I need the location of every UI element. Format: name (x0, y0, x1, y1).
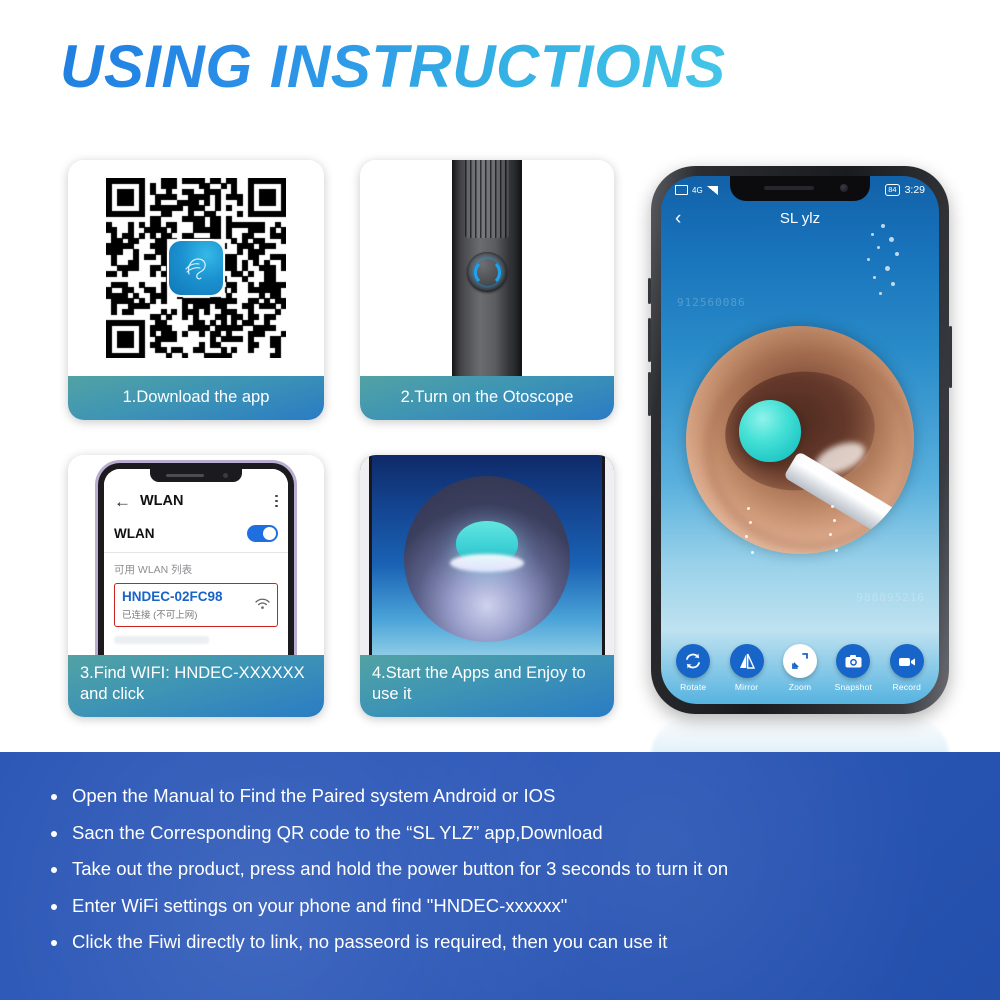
toolbar-button-mirror[interactable]: Mirror (724, 644, 768, 692)
list-item: Enter WiFi settings on your phone and fi… (72, 888, 960, 925)
card-caption: 1.Download the app (68, 376, 324, 420)
wlan-network-item[interactable]: HNDEC-02FC98 已连接 (不可上网) (114, 583, 278, 627)
list-item: Sacn the Corresponding QR code to the “S… (72, 815, 960, 852)
wifi-icon (255, 598, 270, 613)
wifi-glyph (255, 598, 270, 610)
phone-volume-down-button (648, 372, 651, 416)
card-caption: 4.Start the Apps and Enjoy to use it (360, 655, 614, 717)
scope-preview-image (360, 455, 614, 655)
wlan-ssid: HNDEC-02FC98 (122, 589, 223, 605)
message-icon (675, 185, 688, 195)
status-bar: 4G 84 3:29 (661, 181, 939, 199)
phone-power-button (949, 326, 952, 388)
ear-logo-icon (177, 249, 215, 287)
phone-bezel-right (602, 455, 614, 655)
toolbar-button-snapshot[interactable]: Snapshot (831, 644, 875, 692)
card-download-app: 1.Download the app (68, 160, 324, 420)
video-glyph (896, 651, 917, 672)
instructions-panel: Open the Manual to Find the Paired syste… (0, 752, 1000, 1000)
video-icon (890, 644, 924, 678)
zoom-glyph (789, 650, 811, 672)
toolbar-label: Record (893, 682, 922, 692)
mirror-icon (730, 644, 764, 678)
list-item (114, 636, 209, 644)
status-bar-right: 84 3:29 (885, 184, 925, 196)
phone-bezel-left (360, 455, 372, 655)
app-nav-bar: ‹ SL ylz (661, 203, 939, 233)
wlan-toggle-switch[interactable] (247, 525, 278, 542)
wlan-section-label: 可用 WLAN 列表 (114, 562, 278, 577)
device-photo-area (360, 160, 614, 376)
app-title: SL ylz (780, 210, 820, 227)
camera-icon (836, 644, 870, 678)
wlan-toggle-row[interactable]: WLAN (114, 518, 278, 548)
bubbles-decoration (851, 224, 909, 302)
list-item: Take out the product, press and hold the… (72, 851, 960, 888)
page-title: USING INSTRUCTIONS (60, 32, 726, 101)
camera-glyph (843, 651, 864, 672)
back-chevron-icon[interactable]: ‹ (675, 209, 681, 228)
divider (104, 552, 288, 553)
kebab-menu-icon[interactable] (275, 495, 278, 508)
battery-icon: 84 (885, 184, 899, 196)
power-button[interactable] (467, 252, 507, 292)
rotate-glyph (683, 651, 703, 671)
back-arrow-icon[interactable]: ← (114, 493, 131, 510)
toolbar-button-zoom[interactable]: Zoom (778, 644, 822, 692)
mirror-glyph (737, 651, 757, 671)
earpiece-speaker (166, 474, 204, 477)
device-edge-left (452, 160, 459, 376)
wlan-ssid-status: 已连接 (不可上网) (122, 607, 223, 621)
phone-notch (150, 469, 242, 482)
scope-preview-area (360, 455, 614, 655)
camera-toolbar: Rotate Mirror (661, 644, 939, 692)
qr-code-area (68, 160, 324, 376)
wlan-toolbar: ← WLAN (114, 488, 278, 514)
network-type-label: 4G (692, 186, 703, 195)
tip-glow (450, 554, 524, 572)
wlan-header-title: WLAN (140, 493, 184, 509)
phone-volume-up-button (648, 318, 651, 362)
rotate-icon (676, 644, 710, 678)
wlan-other-networks (114, 636, 278, 655)
signal-bars-icon (707, 186, 718, 195)
power-ring-icon (474, 259, 501, 286)
instructions-list: Open the Manual to Find the Paired syste… (0, 752, 1000, 961)
toolbar-button-rotate[interactable]: Rotate (671, 644, 715, 692)
phone-screen: 4G 84 3:29 ‹ SL ylz 912560086 980095 (661, 176, 939, 704)
wlan-screen: ← WLAN WLAN 可用 WLAN 列表 HNDEC-02FC98 已连接 … (104, 469, 288, 655)
wlan-toggle-label: WLAN (114, 526, 155, 541)
toolbar-button-record[interactable]: Record (885, 644, 929, 692)
toolbar-label: Zoom (789, 682, 812, 692)
list-item: Open the Manual to Find the Paired syste… (72, 778, 960, 815)
qr-code (106, 178, 286, 358)
zoom-icon (783, 644, 817, 678)
card-caption: 2.Turn on the Otoscope (360, 376, 614, 420)
otoscope-device (452, 160, 522, 376)
phone-mute-switch (648, 278, 651, 304)
phone-mockup: 4G 84 3:29 ‹ SL ylz 912560086 980095 (651, 166, 949, 714)
card-turn-on-otoscope: 2.Turn on the Otoscope (360, 160, 614, 420)
wlan-phone-mockup: ← WLAN WLAN 可用 WLAN 列表 HNDEC-02FC98 已连接 … (98, 463, 294, 655)
card-caption: 3.Find WIFI: HNDEC-XXXXXX and click (68, 655, 324, 717)
water-drops-decoration (661, 503, 939, 603)
device-grip-ridges (465, 160, 509, 238)
wlan-screenshot-area: ← WLAN WLAN 可用 WLAN 列表 HNDEC-02FC98 已连接 … (68, 455, 324, 655)
card-find-wifi: ← WLAN WLAN 可用 WLAN 列表 HNDEC-02FC98 已连接 … (68, 455, 324, 717)
toolbar-label: Rotate (680, 682, 706, 692)
status-bar-time: 3:29 (905, 184, 925, 196)
otoscope-tip (739, 400, 801, 462)
toolbar-label: Mirror (735, 682, 758, 692)
front-camera (223, 473, 228, 478)
status-bar-left: 4G (675, 185, 718, 195)
watermark-left: 912560086 (677, 296, 746, 309)
card-start-apps: 4.Start the Apps and Enjoy to use it (360, 455, 614, 717)
device-edge-right (513, 160, 522, 376)
list-item: Click the Fiwi directly to link, no pass… (72, 924, 960, 961)
sl-ylz-app-icon (169, 241, 223, 295)
toolbar-label: Snapshot (835, 682, 873, 692)
